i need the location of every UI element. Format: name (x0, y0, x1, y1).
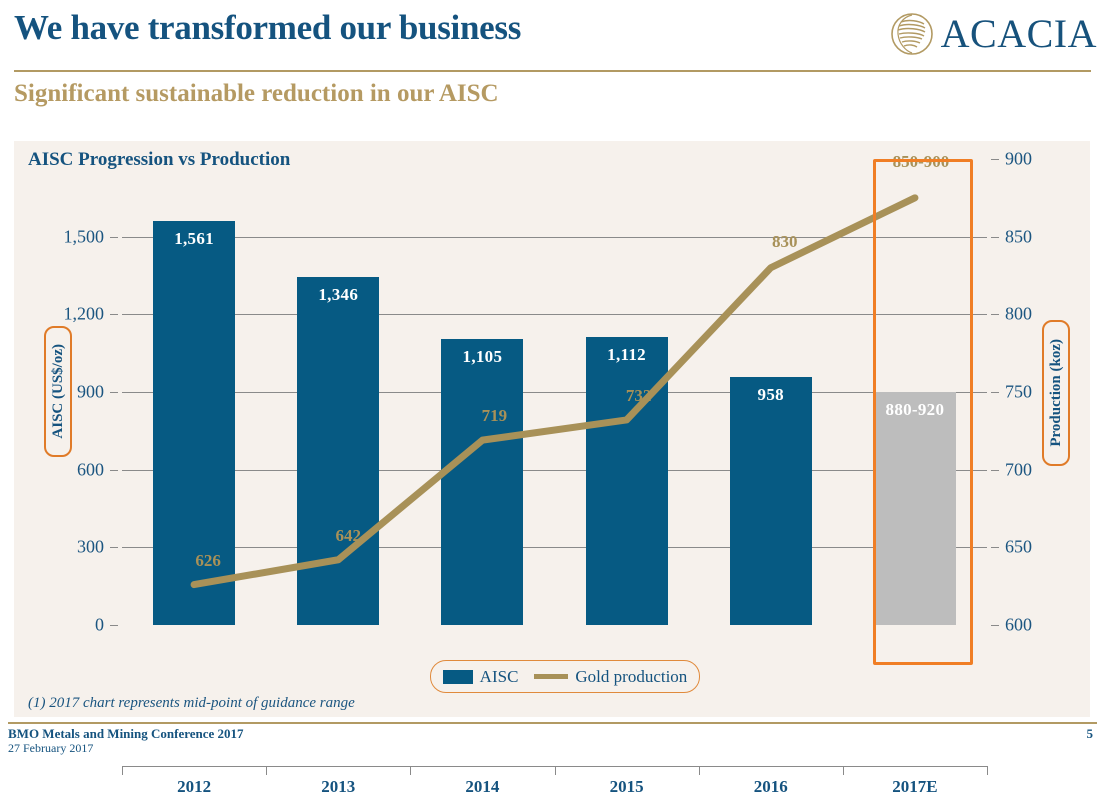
bar-value-label: 1,346 (297, 285, 379, 305)
y-axis-tick (110, 470, 118, 471)
bar-2014[interactable]: 1,105 (441, 339, 523, 625)
bar-value-label: 1,561 (153, 229, 235, 249)
acacia-globe-icon (889, 11, 935, 57)
bar-2012[interactable]: 1,561 (153, 221, 235, 625)
x-axis-tick (266, 766, 267, 775)
right-axis-title-callout: Production (koz) (1042, 320, 1070, 466)
line-value-label-2012: 626 (195, 551, 221, 571)
y2-axis-tick (991, 470, 999, 471)
y2-axis-tick-label: 900 (1005, 149, 1032, 170)
x-axis-tick (843, 766, 844, 775)
left-axis-title-label: AISC (US$/oz) (50, 344, 67, 439)
y-axis-tick-label: 600 (77, 459, 104, 480)
plot-area: 03006009001,2001,50060065070075080085090… (122, 159, 987, 625)
header-divider (14, 70, 1091, 72)
gridline (122, 314, 987, 315)
x-axis-label-2014: 2014 (465, 777, 499, 797)
y-axis-tick-label: 0 (95, 615, 104, 636)
chart-footnote: (1) 2017 chart represents mid-point of g… (28, 695, 355, 712)
gridline (122, 547, 987, 548)
x-axis-tick (699, 766, 700, 775)
legend-bar-swatch (443, 670, 473, 684)
bar-2016[interactable]: 958 (730, 377, 812, 625)
line-value-label-2013: 642 (336, 526, 362, 546)
bar-2015[interactable]: 1,112 (586, 337, 668, 625)
x-axis-tick (555, 766, 556, 775)
chart-legend: AISC Gold production (430, 660, 700, 693)
y2-axis-tick (991, 314, 999, 315)
y2-axis-tick (991, 237, 999, 238)
gridline (122, 392, 987, 393)
x-axis-tick (122, 766, 123, 775)
y2-axis-tick (991, 392, 999, 393)
x-axis-label-2012: 2012 (177, 777, 211, 797)
bar-value-label: 958 (730, 385, 812, 405)
page-title: We have transformed our business (14, 8, 521, 48)
footer-divider (8, 722, 1097, 724)
y2-axis-tick-label: 850 (1005, 226, 1032, 247)
x-axis-label-2017E: 2017E (892, 777, 937, 797)
left-axis-title-callout: AISC (US$/oz) (44, 326, 72, 457)
acacia-logo: ACACIA (889, 8, 1097, 60)
x-axis-tick (987, 766, 988, 775)
y2-axis-tick-label: 650 (1005, 537, 1032, 558)
y2-axis-tick (991, 159, 999, 160)
bar-2013[interactable]: 1,346 (297, 277, 379, 625)
gridline (122, 237, 987, 238)
right-axis-title: Production (koz) (1044, 322, 1068, 464)
acacia-wordmark: ACACIA (941, 14, 1097, 54)
x-axis-label-2013: 2013 (321, 777, 355, 797)
y-axis-tick-label: 900 (77, 382, 104, 403)
y-axis-tick-label: 300 (77, 537, 104, 558)
y2-axis-tick-label: 750 (1005, 382, 1032, 403)
x-axis-label-2016: 2016 (754, 777, 788, 797)
y2-axis-tick (991, 547, 999, 548)
y-axis-tick (110, 392, 118, 393)
page-number: 5 (1087, 726, 1094, 742)
x-axis-label-2015: 2015 (610, 777, 644, 797)
footer-date: 27 February 2017 (8, 741, 93, 756)
right-axis-title-label: Production (koz) (1048, 339, 1065, 447)
line-value-label-2015: 732 (626, 386, 652, 406)
x-axis-tick (410, 766, 411, 775)
legend-line-swatch (534, 674, 568, 679)
y2-axis-tick-label: 800 (1005, 304, 1032, 325)
bar-value-label: 1,105 (441, 347, 523, 367)
estimate-highlight-box (873, 159, 973, 665)
legend-label-gold-production: Gold production (575, 667, 687, 687)
legend-item-gold-production: Gold production (534, 667, 687, 687)
line-value-label-2014: 719 (482, 406, 508, 426)
y2-axis-tick-label: 600 (1005, 615, 1032, 636)
y2-axis-tick (991, 625, 999, 626)
y-axis-tick (110, 314, 118, 315)
left-axis-title: AISC (US$/oz) (46, 328, 70, 455)
y-axis-tick-label: 1,500 (64, 226, 105, 247)
y2-axis-tick-label: 700 (1005, 459, 1032, 480)
bar-value-label: 1,112 (586, 345, 668, 365)
gridline (122, 470, 987, 471)
legend-item-aisc: AISC (443, 667, 519, 687)
page-subtitle: Significant sustainable reduction in our… (14, 80, 499, 108)
line-value-label-2016: 830 (772, 232, 798, 252)
chart-panel: AISC Progression vs Production AISC (US$… (14, 141, 1090, 717)
y-axis-tick (110, 625, 118, 626)
y-axis-tick (110, 547, 118, 548)
y-axis-tick (110, 237, 118, 238)
footer-conference-name: BMO Metals and Mining Conference 2017 (8, 726, 244, 742)
legend-label-aisc: AISC (480, 667, 519, 687)
y-axis-tick-label: 1,200 (64, 304, 105, 325)
